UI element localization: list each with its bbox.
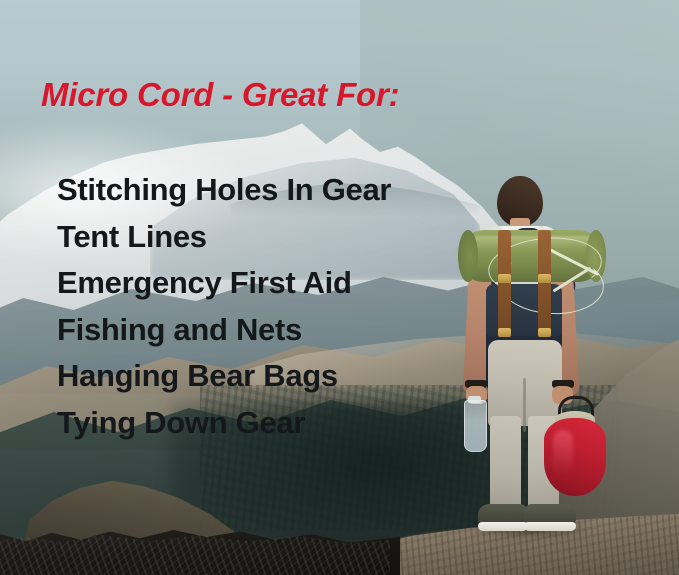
benefit-list: Stitching Holes In Gear Tent Lines Emerg…	[57, 167, 391, 446]
product-poster: Micro Cord - Great For: Stitching Holes …	[0, 0, 679, 575]
poster-headline: Micro Cord - Great For:	[41, 76, 399, 114]
benefit-item: Stitching Holes In Gear	[57, 167, 391, 214]
benefit-item: Hanging Bear Bags	[57, 353, 391, 400]
benefit-item: Fishing and Nets	[57, 307, 391, 354]
benefit-item: Tying Down Gear	[57, 400, 391, 447]
benefit-item: Emergency First Aid	[57, 260, 391, 307]
benefit-item: Tent Lines	[57, 214, 391, 261]
text-overlay: Micro Cord - Great For: Stitching Holes …	[0, 0, 679, 575]
